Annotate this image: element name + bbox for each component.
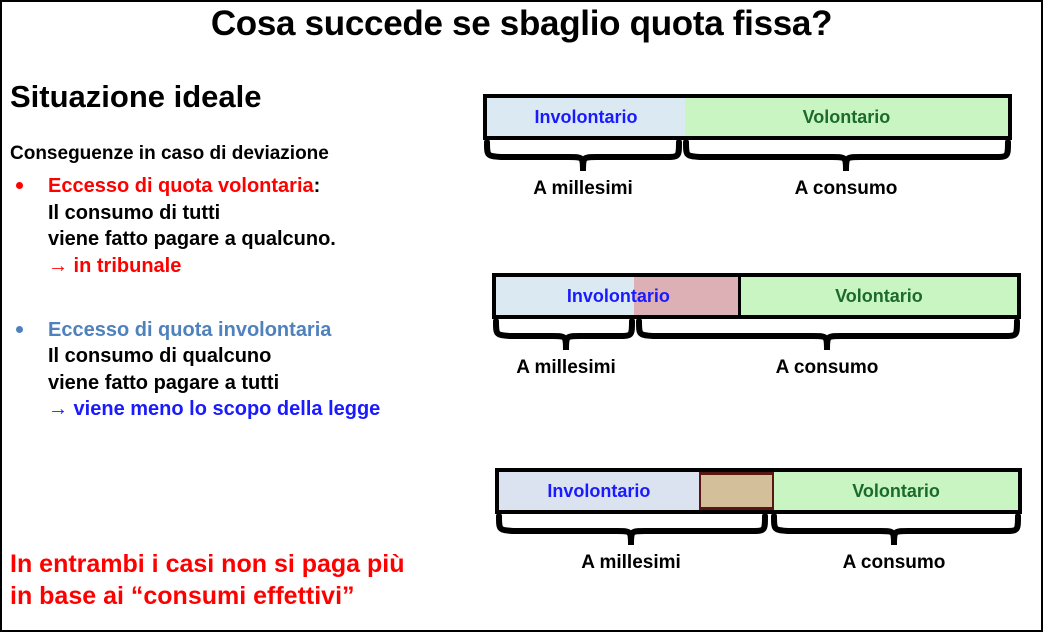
caption-a-consumo: A consumo (794, 552, 994, 574)
section-heading: Situazione ideale (10, 80, 480, 113)
brace-millesimi-icon (496, 321, 632, 350)
segment-label-volontario: Volontario (852, 481, 940, 502)
section-subheading: Conseguenze in caso di deviazione (10, 143, 480, 165)
caption-a-millesimi: A millesimi (466, 357, 666, 379)
brace-captions-row: A millesimi A consumo (483, 178, 1012, 208)
diagram-eccesso-quota-volontaria: Volontario Involontario A millesimi A co… (492, 273, 1021, 387)
brace-group-icon (483, 140, 1012, 178)
bullet-gap (10, 285, 480, 317)
bullet-dot-icon (16, 326, 23, 333)
diagram-eccesso-quota-involontaria: Volontario Involontario A millesimi A co… (495, 468, 1022, 582)
braces-row (492, 319, 1021, 357)
caption-a-consumo: A consumo (746, 178, 946, 200)
segment-label-volontario: Volontario (803, 107, 891, 128)
brace-group-icon (492, 319, 1021, 357)
bullet2-line3: viene fatto pagare a tutti (48, 370, 480, 396)
segment-eccesso-involontario (699, 472, 774, 510)
bullet-item-eccesso-volontaria: Eccesso di quota volontaria: Il consumo … (10, 173, 480, 279)
brace-captions-row: A millesimi A consumo (495, 552, 1022, 582)
segment-label-volontario: Volontario (835, 286, 923, 307)
closing-statement: In entrambi i casi non si paga più in ba… (10, 549, 405, 613)
brace-consumo-icon (686, 142, 1008, 171)
segment-involontario (487, 98, 685, 136)
bullet1-line3: viene fatto pagare a qualcuno. (48, 226, 480, 252)
segment-volontario: Volontario (774, 472, 1018, 510)
brace-consumo-icon (774, 516, 1018, 545)
page-title: Cosa succede se sbaglio quota fissa? (2, 4, 1041, 44)
brace-consumo-icon (639, 321, 1017, 350)
closing-line-2: in base ai “consumi effettivi” (10, 581, 405, 613)
bullet1-lead-punct: : (314, 175, 321, 197)
segment-eccesso-volontario (634, 277, 741, 315)
segment-volontario: Volontario (685, 98, 1008, 136)
bullet2-line4: → viene meno lo scopo della legge (48, 396, 480, 422)
bullet1-lead: Eccesso di quota volontaria: (48, 173, 480, 199)
bullet1-line4: → in tribunale (48, 253, 480, 279)
bullet-dot-icon (16, 182, 23, 189)
brace-captions-row: A millesimi A consumo (492, 357, 1021, 387)
segment-volontario: Volontario (741, 277, 1017, 315)
diagram-situazione-ideale: Volontario Involontario A millesimi A co… (483, 94, 1012, 208)
braces-row (495, 514, 1022, 552)
bullet1-line2: Il consumo di tutti (48, 200, 480, 226)
bar-eccesso-volontaria: Volontario Involontario (492, 273, 1021, 319)
caption-a-millesimi: A millesimi (531, 552, 731, 574)
closing-line-1: In entrambi i casi non si paga più (10, 549, 405, 581)
slide: Cosa succede se sbaglio quota fissa? Sit… (0, 0, 1043, 632)
bar-situazione-ideale: Volontario Involontario (483, 94, 1012, 140)
left-text-column: Situazione ideale Conseguenze in caso di… (10, 80, 480, 429)
bullet2-line2: Il consumo di qualcuno (48, 343, 480, 369)
caption-a-millesimi: A millesimi (483, 178, 683, 200)
brace-millesimi-icon (487, 142, 679, 171)
bullet-item-eccesso-involontaria: Eccesso di quota involontaria Il consumo… (10, 317, 480, 423)
caption-a-consumo: A consumo (727, 357, 927, 379)
segment-involontario (499, 472, 699, 510)
brace-group-icon (495, 514, 1022, 552)
bullet2-lead: Eccesso di quota involontaria (48, 317, 480, 343)
segment-involontario (496, 277, 634, 315)
bar-eccesso-involontaria: Volontario Involontario (495, 468, 1022, 514)
bullet1-lead-text: Eccesso di quota volontaria (48, 175, 314, 197)
braces-row (483, 140, 1012, 178)
brace-millesimi-icon (499, 516, 765, 545)
